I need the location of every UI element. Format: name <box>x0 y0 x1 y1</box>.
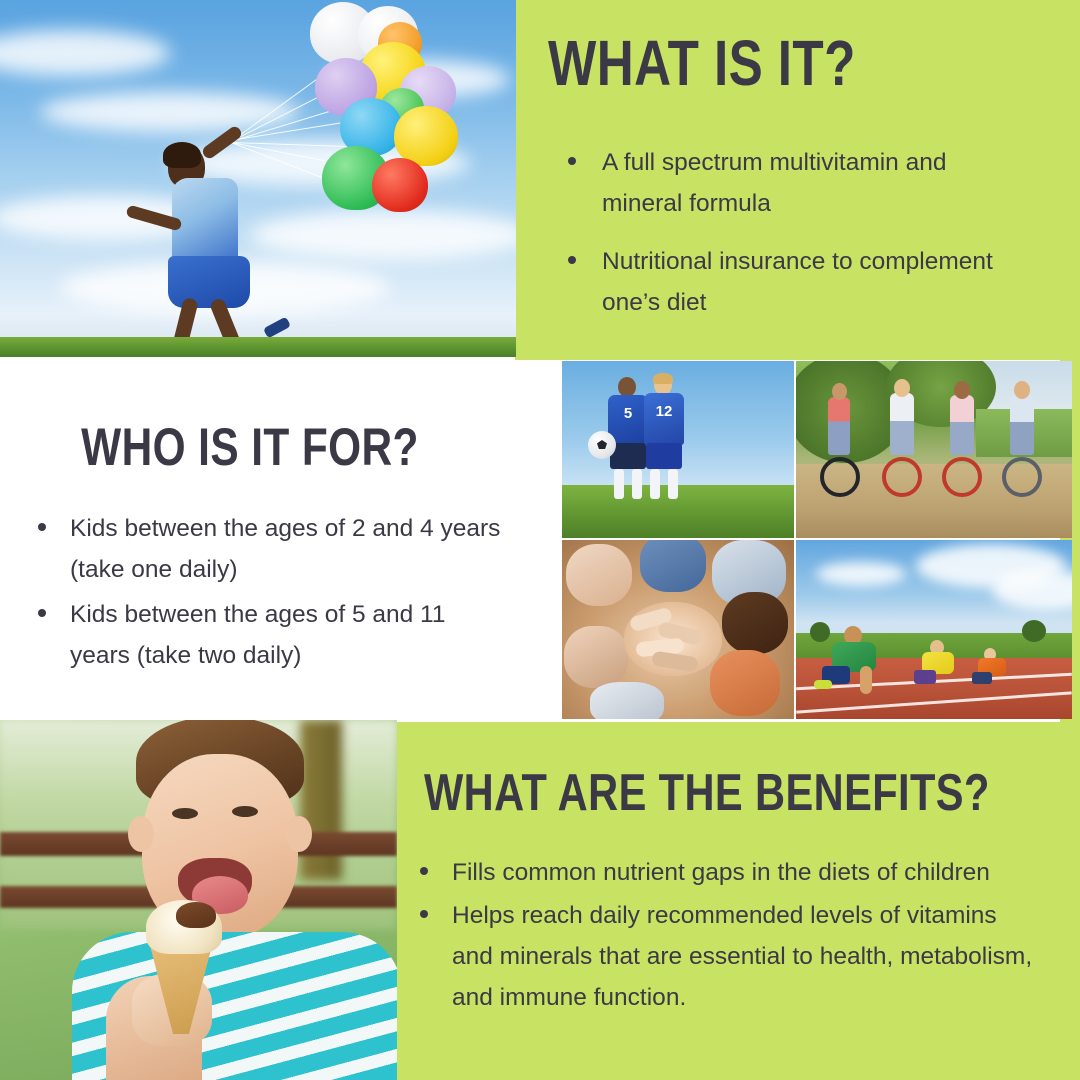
bullet-text: Kids between the ages of 5 and 11 years … <box>70 594 508 676</box>
bullet-text: Kids between the ages of 2 and 4 years (… <box>70 508 508 590</box>
balloon-red <box>372 158 428 212</box>
boy2-sock-left <box>650 469 660 499</box>
boy1-sock-left <box>614 469 624 499</box>
list-item: Fills common nutrient gaps in the diets … <box>420 852 1040 893</box>
bike-2-wheel <box>882 457 922 497</box>
hands-kid-5 <box>710 650 780 716</box>
bullet-text: Helps reach daily recommended levels of … <box>452 895 1040 1018</box>
bike-kid-2 <box>890 393 914 455</box>
bullet-dot <box>568 157 576 165</box>
hands-kid-1 <box>566 544 632 606</box>
bike-kid-4 <box>1010 395 1034 455</box>
tree-trunk <box>300 720 342 880</box>
balloon-yellow-2 <box>394 106 458 166</box>
runner-1-shoe <box>814 680 832 689</box>
hands-kid-2 <box>640 540 706 592</box>
bike-kid-4-head <box>1014 381 1030 399</box>
bullet-text: Nutritional insurance to complement one’… <box>602 241 1008 323</box>
bike-kid-3-head <box>954 381 970 399</box>
bike-kid-1 <box>828 397 850 455</box>
list-item: Kids between the ages of 2 and 4 years (… <box>38 508 508 590</box>
list-item: Kids between the ages of 5 and 11 years … <box>38 594 508 676</box>
what-are-the-benefits-bullet-list: Fills common nutrient gaps in the diets … <box>420 852 1040 1018</box>
boy1-head <box>618 377 636 397</box>
boy2-sock-right <box>668 469 678 499</box>
soccer-boys-photo: 5 12 <box>562 361 794 538</box>
boy-eye-left <box>172 808 198 819</box>
runner-3-shorts <box>972 672 992 684</box>
hands-kid-4 <box>722 592 788 654</box>
bike-4-wheel <box>1002 457 1042 497</box>
track-tree-left <box>810 622 830 642</box>
boy2-jersey-number: 12 <box>644 403 684 420</box>
bike-kid-1-head <box>832 383 847 400</box>
bullet-dot <box>420 867 428 875</box>
boy-ear-left <box>128 816 154 852</box>
girl-with-balloons-photo <box>0 0 516 357</box>
infographic-canvas: WHAT IS IT? A full spectrum multivitamin… <box>0 0 1080 1080</box>
bullet-dot <box>420 910 428 918</box>
what-are-the-benefits-heading: WHAT ARE THE BENEFITS? <box>424 770 990 818</box>
list-item: Nutritional insurance to complement one’… <box>568 241 1008 323</box>
kids-on-bikes-photo <box>796 361 1072 538</box>
soccer-field <box>562 485 794 538</box>
bike-kid-3 <box>950 395 974 455</box>
girl-hair <box>163 142 201 168</box>
who-is-it-for-bullet-list: Kids between the ages of 2 and 4 years (… <box>38 508 508 676</box>
track-tree-right <box>1022 620 1046 642</box>
kids-hands-together-photo <box>562 540 794 719</box>
runner-2-shorts <box>914 670 936 684</box>
boy2-hair <box>653 373 673 384</box>
boy-ear-right <box>286 816 312 852</box>
list-item: A full spectrum multivitamin and mineral… <box>568 142 1008 224</box>
boy2-shorts <box>646 443 682 469</box>
bullet-text: A full spectrum multivitamin and mineral… <box>602 142 1008 224</box>
bullet-dot <box>568 256 576 264</box>
runner-1-arm <box>860 666 872 694</box>
girl-skirt <box>168 256 250 308</box>
hands-kid-7 <box>590 682 664 719</box>
bullet-text: Fills common nutrient gaps in the diets … <box>452 852 1040 893</box>
kids-running-track-photo <box>796 540 1072 719</box>
bike-1-wheel <box>820 457 860 497</box>
girl-shoe-front <box>263 317 291 339</box>
bike-kid-2-head <box>894 379 910 397</box>
boy1-sock-right <box>632 469 642 499</box>
boy1-jersey-number: 5 <box>608 405 648 422</box>
who-is-it-for-heading: WHO IS IT FOR? <box>50 424 450 473</box>
what-is-it-bullet-list: A full spectrum multivitamin and mineral… <box>568 142 1008 323</box>
list-item: Helps reach daily recommended levels of … <box>420 895 1040 1018</box>
grass-strip <box>0 337 516 357</box>
boy-eye-right <box>232 806 258 817</box>
what-is-it-heading: WHAT IS IT? <box>548 34 856 93</box>
hands-kid-6 <box>564 626 628 688</box>
bullet-dot <box>38 523 46 531</box>
ice-cream-sauce <box>176 902 216 928</box>
bullet-dot <box>38 609 46 617</box>
bike-3-wheel <box>942 457 982 497</box>
boy-eating-ice-cream-photo <box>0 720 397 1080</box>
